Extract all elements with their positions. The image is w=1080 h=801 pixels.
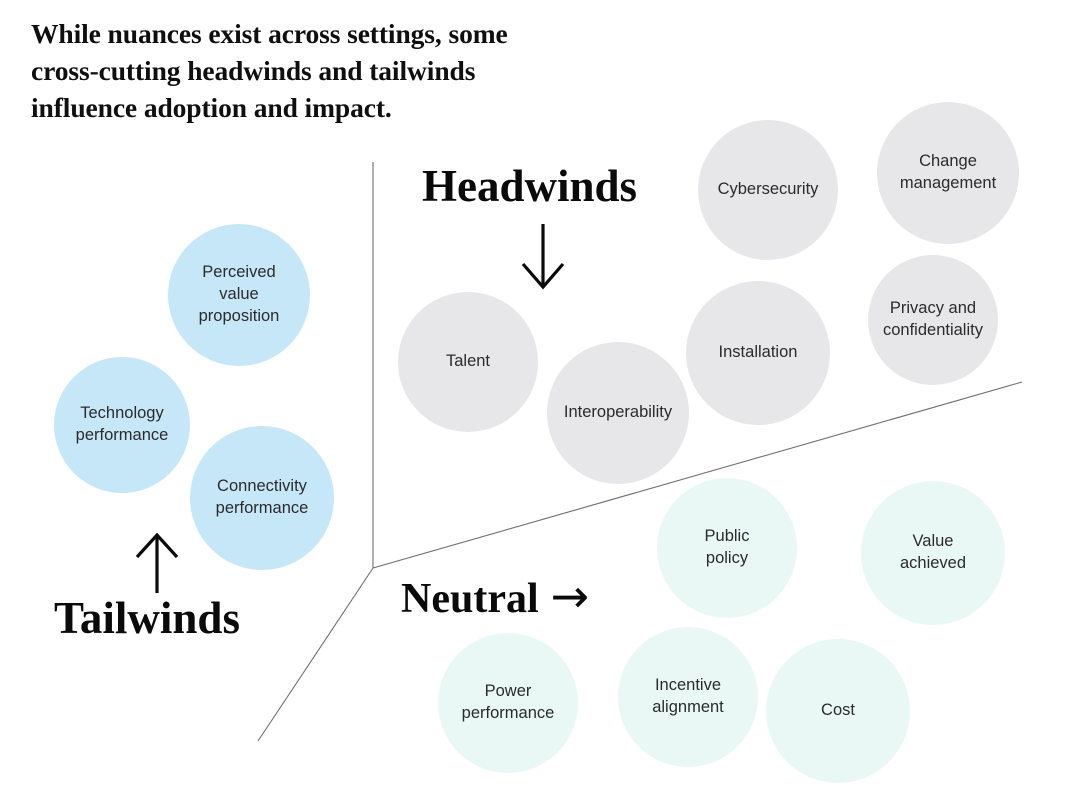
bubble-perceived-value-proposition[interactable]: Perceived value proposition [168,224,310,366]
bubble-value-achieved[interactable]: Value achieved [861,481,1005,625]
zone-label-tailwinds: Tailwinds [54,596,240,641]
bubble-label: Connectivity performance [216,476,309,520]
arrow-up-icon [131,533,183,595]
bubble-label: Talent [446,351,490,373]
bubble-label: Change management [900,151,996,195]
bubble-label: Value achieved [900,531,966,575]
bubble-label: Interoperability [564,402,672,424]
bubble-label: Technology performance [76,403,169,447]
bubble-change-management[interactable]: Change management [877,102,1019,244]
bubble-interoperability[interactable]: Interoperability [547,342,689,484]
bubble-connectivity-performance[interactable]: Connectivity performance [190,426,334,570]
bubble-label: Installation [719,342,798,364]
bubble-label: Cybersecurity [718,179,819,201]
bubble-installation[interactable]: Installation [686,281,830,425]
arrow-right-icon: → [551,573,590,619]
bubble-incentive-alignment[interactable]: Incentive alignment [618,627,758,767]
bubble-technology-performance[interactable]: Technology performance [54,357,190,493]
zone-label-neutral-text: Neutral [401,578,539,620]
bubble-label: Privacy and confidentiality [883,298,983,342]
lower-left-divider [258,568,373,741]
zone-label-neutral: Neutral → [401,576,589,622]
bubble-label: Power performance [462,681,555,725]
bubble-talent[interactable]: Talent [398,292,538,432]
bubble-label: Incentive alignment [652,675,724,719]
bubble-label: Perceived value proposition [199,262,280,327]
bubble-label: Public policy [705,526,750,570]
bubble-label: Cost [821,700,855,722]
slide-canvas: While nuances exist across settings, som… [0,0,1080,801]
bubble-privacy-and-confidentiality[interactable]: Privacy and confidentiality [868,255,998,385]
bubble-power-performance[interactable]: Power performance [438,633,578,773]
bubble-cybersecurity[interactable]: Cybersecurity [698,120,838,260]
page-title: While nuances exist across settings, som… [31,15,631,126]
bubble-cost[interactable]: Cost [766,639,910,783]
bubble-public-policy[interactable]: Public policy [657,478,797,618]
arrow-down-icon [516,222,570,290]
zone-label-headwinds: Headwinds [422,164,637,209]
